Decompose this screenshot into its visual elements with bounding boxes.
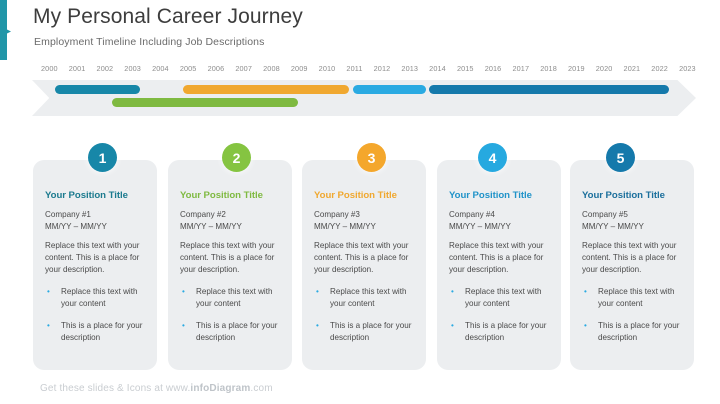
- bullet-dot-icon: •: [316, 320, 319, 332]
- card-description: Replace this text with your content. Thi…: [582, 240, 684, 276]
- bullet-text: Replace this text with your content: [196, 287, 272, 308]
- list-item: •This is a place for your description: [582, 320, 688, 344]
- bullet-list: •Replace this text with your content•Thi…: [582, 286, 688, 354]
- company-and-dates: Company #1MM/YY – MM/YY: [45, 209, 149, 233]
- step-number-badge-4[interactable]: 4: [478, 143, 507, 172]
- timeline-segment-5-blue[interactable]: [429, 85, 669, 94]
- list-item: •This is a place for your description: [45, 320, 151, 344]
- list-item: •Replace this text with your content: [582, 286, 688, 310]
- company-and-dates: Company #5MM/YY – MM/YY: [582, 209, 686, 233]
- bullet-text: This is a place for your description: [61, 321, 142, 342]
- year-tick-2013: 2013: [401, 64, 418, 76]
- footer-brand: infoDiagram: [190, 383, 250, 394]
- card-description: Replace this text with your content. Thi…: [180, 240, 282, 276]
- company-and-dates: Company #4MM/YY – MM/YY: [449, 209, 553, 233]
- company-and-dates: Company #3MM/YY – MM/YY: [314, 209, 418, 233]
- list-item: •Replace this text with your content: [314, 286, 420, 310]
- card-description: Replace this text with your content. Thi…: [449, 240, 551, 276]
- step-number-badge-5[interactable]: 5: [606, 143, 635, 172]
- career-card-5[interactable]: Your Position TitleCompany #5MM/YY – MM/…: [570, 160, 694, 370]
- bullet-text: This is a place for your description: [196, 321, 277, 342]
- card-description: Replace this text with your content. Thi…: [45, 240, 147, 276]
- year-tick-2023: 2023: [679, 64, 696, 76]
- employment-dates: MM/YY – MM/YY: [314, 221, 418, 233]
- employment-dates: MM/YY – MM/YY: [180, 221, 284, 233]
- step-number-badge-3[interactable]: 3: [357, 143, 386, 172]
- bullet-dot-icon: •: [451, 286, 454, 298]
- bullet-dot-icon: •: [451, 320, 454, 332]
- company-name: Company #5: [582, 209, 686, 221]
- year-tick-2008: 2008: [263, 64, 280, 76]
- bullet-text: Replace this text with your content: [330, 287, 406, 308]
- timeline-arrow: [32, 80, 696, 116]
- list-item: •Replace this text with your content: [180, 286, 286, 310]
- list-item: •Replace this text with your content: [449, 286, 555, 310]
- career-card-3[interactable]: Your Position TitleCompany #3MM/YY – MM/…: [302, 160, 426, 370]
- year-tick-2009: 2009: [291, 64, 308, 76]
- bullet-dot-icon: •: [47, 286, 50, 298]
- slide-canvas: My Personal Career Journey Employment Ti…: [0, 0, 720, 404]
- year-tick-2010: 2010: [319, 64, 336, 76]
- year-tick-2003: 2003: [124, 64, 141, 76]
- timeline-segment-1-teal[interactable]: [55, 85, 140, 94]
- footer-credit: Get these slides & Icons at www.infoDiag…: [40, 383, 273, 394]
- bullet-text: This is a place for your description: [465, 321, 546, 342]
- bullet-text: Replace this text with your content: [465, 287, 541, 308]
- bullet-text: This is a place for your description: [330, 321, 411, 342]
- position-title: Your Position Title: [449, 190, 555, 201]
- year-tick-2000: 2000: [41, 64, 58, 76]
- year-tick-2002: 2002: [97, 64, 114, 76]
- footer-suffix: .com: [250, 383, 272, 394]
- position-title: Your Position Title: [582, 190, 688, 201]
- year-tick-2016: 2016: [485, 64, 502, 76]
- year-tick-2005: 2005: [180, 64, 197, 76]
- employment-dates: MM/YY – MM/YY: [449, 221, 553, 233]
- bullet-list: •Replace this text with your content•Thi…: [180, 286, 286, 354]
- year-tick-2006: 2006: [208, 64, 225, 76]
- year-tick-2007: 2007: [235, 64, 252, 76]
- year-tick-2012: 2012: [374, 64, 391, 76]
- bullet-list: •Replace this text with your content•Thi…: [449, 286, 555, 354]
- employment-dates: MM/YY – MM/YY: [582, 221, 686, 233]
- year-tick-2019: 2019: [568, 64, 585, 76]
- company-name: Company #4: [449, 209, 553, 221]
- company-and-dates: Company #2MM/YY – MM/YY: [180, 209, 284, 233]
- list-item: •This is a place for your description: [449, 320, 555, 344]
- timeline-segment-4-lightblue[interactable]: [353, 85, 426, 94]
- career-card-4[interactable]: Your Position TitleCompany #4MM/YY – MM/…: [437, 160, 561, 370]
- page-subtitle: Employment Timeline Including Job Descri…: [34, 36, 264, 48]
- bullet-list: •Replace this text with your content•Thi…: [45, 286, 151, 354]
- footer-prefix: Get these slides & Icons at www.: [40, 383, 190, 394]
- list-item: •This is a place for your description: [180, 320, 286, 344]
- bullet-dot-icon: •: [584, 320, 587, 332]
- career-card-1[interactable]: Your Position TitleCompany #1MM/YY – MM/…: [33, 160, 157, 370]
- timeline-segment-2-green[interactable]: [112, 98, 299, 107]
- bullet-dot-icon: •: [182, 320, 185, 332]
- step-number-badge-1[interactable]: 1: [88, 143, 117, 172]
- page-title: My Personal Career Journey: [33, 5, 303, 29]
- year-tick-2022: 2022: [651, 64, 668, 76]
- year-tick-2021: 2021: [624, 64, 641, 76]
- list-item: •This is a place for your description: [314, 320, 420, 344]
- timeline-segment-3-orange[interactable]: [183, 85, 349, 94]
- bullet-dot-icon: •: [584, 286, 587, 298]
- bullet-dot-icon: •: [47, 320, 50, 332]
- year-tick-2004: 2004: [152, 64, 169, 76]
- position-title: Your Position Title: [180, 190, 286, 201]
- list-item: •Replace this text with your content: [45, 286, 151, 310]
- position-title: Your Position Title: [314, 190, 420, 201]
- year-tick-2020: 2020: [596, 64, 613, 76]
- company-name: Company #2: [180, 209, 284, 221]
- bullet-dot-icon: •: [182, 286, 185, 298]
- career-card-2[interactable]: Your Position TitleCompany #2MM/YY – MM/…: [168, 160, 292, 370]
- year-tick-2011: 2011: [346, 64, 362, 76]
- employment-dates: MM/YY – MM/YY: [45, 221, 149, 233]
- card-description: Replace this text with your content. Thi…: [314, 240, 416, 276]
- year-tick-2001: 2001: [69, 64, 86, 76]
- bullet-text: Replace this text with your content: [61, 287, 137, 308]
- company-name: Company #3: [314, 209, 418, 221]
- year-ruler: 2000200120022003200420052006200720082009…: [41, 64, 696, 76]
- year-tick-2015: 2015: [457, 64, 474, 76]
- bullet-dot-icon: •: [316, 286, 319, 298]
- step-number-badge-2[interactable]: 2: [222, 143, 251, 172]
- year-tick-2017: 2017: [512, 64, 529, 76]
- bullet-text: Replace this text with your content: [598, 287, 674, 308]
- year-tick-2018: 2018: [540, 64, 557, 76]
- bullet-text: This is a place for your description: [598, 321, 679, 342]
- bullet-list: •Replace this text with your content•Thi…: [314, 286, 420, 354]
- company-name: Company #1: [45, 209, 149, 221]
- year-tick-2014: 2014: [429, 64, 446, 76]
- position-title: Your Position Title: [45, 190, 151, 201]
